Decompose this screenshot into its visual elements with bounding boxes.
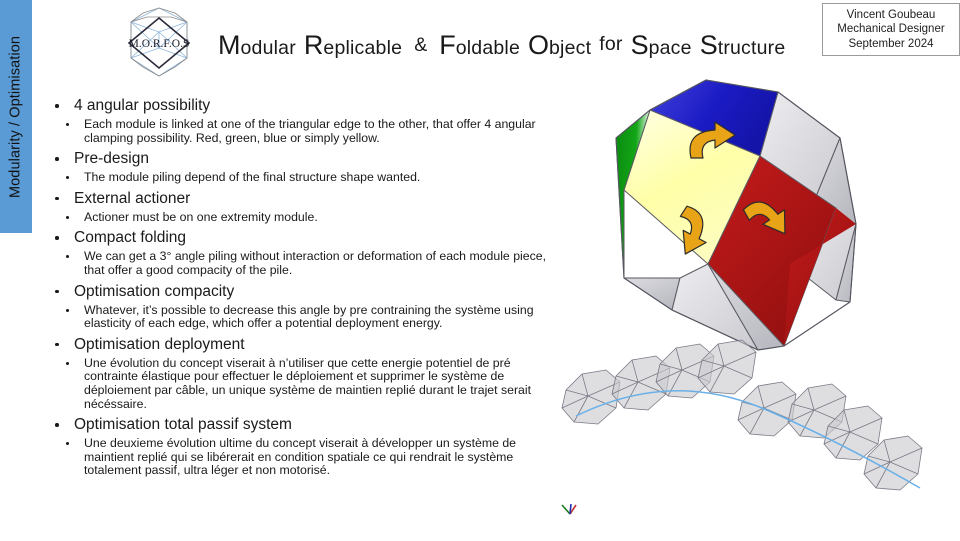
bullet-detail: Une deuxieme évolution ultime du concept… [50, 437, 550, 478]
morfos-logo: M.O.R.F.O.S [113, 2, 205, 84]
bullet-heading-label: Optimisation compacity [74, 283, 234, 300]
logo-text: M.O.R.F.O.S [129, 38, 190, 50]
bullet-block: External actionerActioner must be on one… [50, 189, 550, 225]
bullet-detail-label: We can get a 3° angle piling without int… [84, 249, 546, 277]
logo-wireframe-icon: M.O.R.F.O.S [113, 2, 205, 84]
chain-modules [562, 340, 922, 490]
poly-face-grey-bottom-a [624, 278, 680, 310]
bullet-detail-label: The module piling depend of the final st… [84, 170, 420, 184]
bullet-heading-label: Optimisation total passif system [74, 416, 292, 433]
bullet-detail-label: Actioner must be on one extremity module… [84, 210, 318, 224]
page-title: Modular Replicable & Foldable Object for… [218, 22, 818, 68]
sub-bullet-dot-icon [66, 123, 69, 126]
bullet-heading-label: Compact folding [74, 229, 186, 246]
bullet-detail-label: Une deuxieme évolution ultime du concept… [84, 436, 516, 477]
bullet-detail: We can get a 3° angle piling without int… [50, 250, 550, 277]
bullet-heading: Compact folding [50, 228, 550, 248]
polyhedron-figure [588, 78, 960, 363]
bullet-block: Optimisation total passif systemUne deux… [50, 415, 550, 478]
bullet-dot-icon [55, 157, 59, 161]
author-info-box: Vincent Goubeau Mechanical Designer Sept… [822, 3, 960, 56]
bullet-detail: Each module is linked at one of the tria… [50, 118, 550, 145]
sub-bullet-dot-icon [66, 442, 69, 445]
bullet-heading: Optimisation deployment [50, 335, 550, 355]
sub-bullet-dot-icon [66, 216, 69, 219]
sidebar-tab-label: Modularity / Optimisation [0, 1, 32, 234]
author-name: Vincent Goubeau [847, 8, 936, 23]
bullet-block: Compact foldingWe can get a 3° angle pil… [50, 228, 550, 277]
author-date: September 2024 [848, 37, 933, 52]
bullet-block: Optimisation deploymentUne évolution du … [50, 335, 550, 411]
bullet-heading-label: External actioner [74, 190, 190, 207]
bullet-detail: The module piling depend of the final st… [50, 171, 550, 185]
bullet-heading-label: Pre-design [74, 150, 149, 167]
bullet-dot-icon [55, 423, 59, 427]
bullet-dot-icon [55, 104, 59, 108]
bullet-heading: Optimisation compacity [50, 282, 550, 302]
sub-bullet-dot-icon [66, 362, 69, 365]
bullet-heading: External actioner [50, 189, 550, 209]
bullet-heading: 4 angular possibility [50, 96, 550, 116]
bullet-block: 4 angular possibilityEach module is link… [50, 96, 550, 145]
sub-bullet-dot-icon [66, 176, 69, 179]
bullet-content: 4 angular possibilityEach module is link… [50, 96, 550, 482]
bullet-detail-label: Whatever, it’s possible to decrease this… [84, 303, 534, 331]
bullet-detail: Une évolution du concept viserait à n’ut… [50, 357, 550, 411]
folded-chain-figure [548, 338, 960, 536]
sub-bullet-dot-icon [66, 255, 69, 258]
bullet-block: Pre-designThe module piling depend of th… [50, 149, 550, 185]
bullet-dot-icon [55, 236, 59, 240]
author-role: Mechanical Designer [837, 22, 944, 37]
bullet-heading: Pre-design [50, 149, 550, 169]
bullet-detail: Whatever, it’s possible to decrease this… [50, 304, 550, 331]
bullet-dot-icon [55, 290, 59, 294]
cad-axis-triad-icon [556, 498, 584, 522]
bullet-heading-label: 4 angular possibility [74, 97, 210, 114]
bullet-detail-label: Each module is linked at one of the tria… [84, 117, 536, 145]
bullet-heading-label: Optimisation deployment [74, 336, 245, 353]
bullet-dot-icon [55, 197, 59, 201]
bullet-detail-label: Une évolution du concept viserait à n’ut… [84, 356, 531, 411]
bullet-dot-icon [55, 343, 59, 347]
sub-bullet-dot-icon [66, 309, 69, 312]
bullet-detail: Actioner must be on one extremity module… [50, 211, 550, 225]
bullet-block: Optimisation compacityWhatever, it’s pos… [50, 282, 550, 331]
bullet-heading: Optimisation total passif system [50, 415, 550, 435]
sidebar-section-tab[interactable]: Modularity / Optimisation [0, 0, 32, 233]
